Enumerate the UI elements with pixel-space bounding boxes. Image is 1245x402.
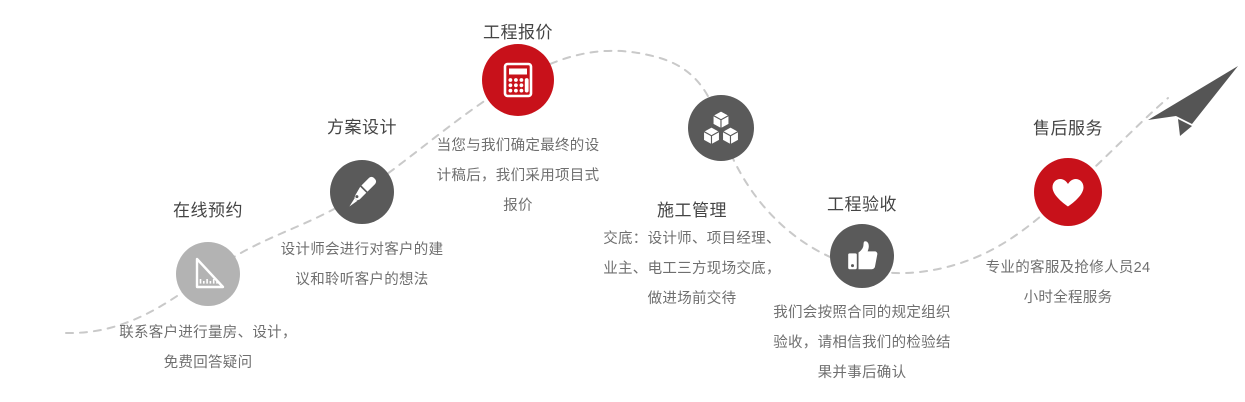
step-description: 设计师会进行对客户的建议和聆听客户的想法: [275, 235, 450, 295]
step-description: 我们会按照合同的规定组织验收，请相信我们的检验结果并事后确认: [772, 298, 952, 388]
step-title: 工程报价: [483, 18, 553, 43]
boxes-icon: [688, 95, 754, 161]
step-description: 当您与我们确定最终的设计稿后，我们采用项目式报价: [431, 131, 606, 221]
service-flow-diagram: 在线预约 联系客户进行量房、设计，免费回答疑问 方案设计: [0, 0, 1245, 402]
step-title: 在线预约: [173, 196, 243, 221]
step-description: 交底：设计师、项目经理、业主、电工三方现场交底，做进场前交待: [602, 224, 782, 314]
step-description: 专业的客服及抢修人员24小时全程服务: [981, 253, 1156, 313]
paper-plane-icon: [1140, 62, 1245, 142]
step-title: 工程验收: [827, 190, 897, 215]
ruler-triangle-icon: [176, 242, 240, 306]
fountain-pen-icon: [330, 160, 394, 224]
step-title: 施工管理: [657, 196, 727, 221]
step-title: 售后服务: [1033, 114, 1103, 139]
heart-icon: [1034, 158, 1102, 226]
calculator-icon: [482, 44, 554, 116]
step-description: 联系客户进行量房、设计，免费回答疑问: [118, 318, 298, 378]
step-title: 方案设计: [327, 113, 397, 138]
thumbs-up-icon: [830, 224, 894, 288]
